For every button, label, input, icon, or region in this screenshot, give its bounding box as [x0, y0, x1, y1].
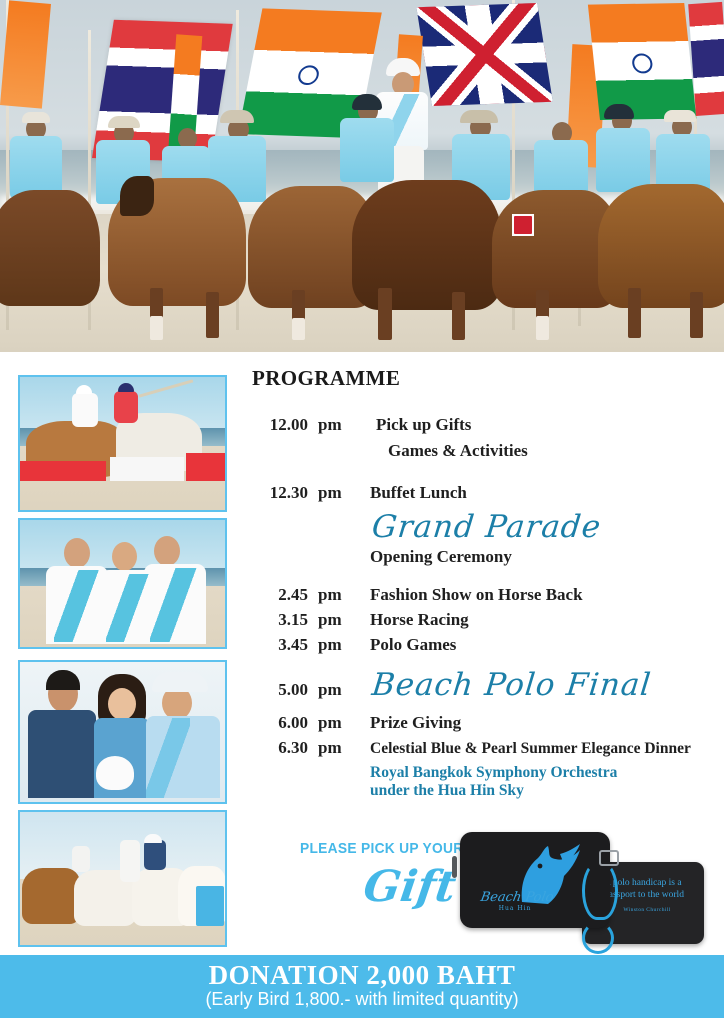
row-ampm: pm	[308, 415, 364, 435]
player-head	[64, 538, 90, 568]
helmet	[76, 385, 92, 394]
programme-section: PROGRAMME 12.00 pm Pick up Gifts Games &…	[252, 366, 712, 801]
row-event-script: Grand Parade	[362, 509, 603, 545]
gallery-photo-team-players	[18, 518, 227, 649]
row-ampm: pm	[308, 738, 364, 758]
row-event: Opening Ceremony	[364, 547, 512, 567]
horse	[598, 184, 724, 308]
person-shirt	[340, 118, 394, 182]
horse-leg	[452, 292, 465, 340]
programme-row: 12.00 pm Pick up Gifts	[252, 415, 712, 435]
row-event: Prize Giving	[364, 713, 461, 733]
guest-hat	[152, 672, 208, 692]
person-hat	[664, 110, 696, 122]
india-chakra-icon	[296, 65, 320, 85]
zipper-icon	[452, 856, 457, 878]
horse-leg	[690, 292, 703, 338]
horse-leg	[378, 288, 392, 340]
programme-row: 3.45 pm Polo Games	[252, 635, 712, 655]
orchestra-lines: Royal Bangkok Symphony Orchestra under t…	[364, 764, 617, 801]
orchestra-line-1: Royal Bangkok Symphony Orchestra	[370, 764, 617, 781]
row-time: 3.45	[252, 635, 308, 655]
horse-sock	[536, 316, 549, 340]
programme-row: 2.45 pm Fashion Show on Horse Back	[252, 585, 712, 605]
row-ampm: pm	[308, 585, 364, 605]
guest-head	[108, 688, 136, 720]
pick-up-gift-label: PLEASE PICK UP YOUR	[300, 840, 463, 857]
programme-row-orchestra: Royal Bangkok Symphony Orchestra under t…	[252, 764, 712, 801]
row-event: Fashion Show on Horse Back	[364, 585, 583, 605]
gallery-photo-children-ponies	[18, 810, 227, 947]
row-event: Buffet Lunch	[364, 483, 467, 503]
row-time: 12.00	[252, 415, 308, 435]
wrist-strap-loop	[582, 922, 614, 954]
programme-row: 6.30 pm Celestial Blue & Pearl Summer El…	[252, 738, 712, 758]
person-shirt	[596, 128, 650, 192]
programme-row-grand-parade: Grand Parade	[252, 509, 712, 545]
row-ampm: pm	[308, 713, 364, 733]
horse-mane	[120, 176, 154, 216]
row-ampm: pm	[308, 610, 364, 630]
horse-leg	[206, 292, 219, 338]
row-time: 5.00	[252, 680, 308, 700]
pony	[22, 868, 80, 924]
row-event-script: Beach Polo Final	[362, 667, 653, 703]
player-sash	[150, 568, 198, 642]
donation-amount: DONATION 2,000 BAHT	[0, 955, 724, 991]
dog	[96, 756, 134, 790]
row-event: Horse Racing	[364, 610, 469, 630]
guest-shirt	[28, 710, 96, 798]
player-head	[112, 542, 137, 571]
row-time: 3.15	[252, 610, 308, 630]
orchestra-line-2: under the Hua Hin Sky	[370, 782, 524, 799]
row-event: Polo Games	[364, 635, 456, 655]
flag-india	[588, 3, 696, 120]
india-chakra-icon	[631, 53, 653, 73]
hero-parade-photo	[0, 0, 724, 352]
donation-banner: DONATION 2,000 BAHT (Early Bird 1,800.- …	[0, 955, 724, 1018]
person-hat	[352, 94, 382, 110]
horse-number	[514, 216, 532, 234]
player-head	[154, 536, 180, 566]
row-time: 6.30	[252, 738, 308, 758]
gift-brand-location: Hua Hin	[479, 905, 552, 912]
sponsor-board	[20, 461, 106, 481]
horse-sock	[292, 318, 305, 340]
child-rider	[144, 840, 166, 870]
adult-handler	[120, 840, 140, 882]
row-ampm: pm	[308, 483, 364, 503]
person-hat	[108, 116, 140, 128]
person-hat	[22, 112, 50, 123]
horse-sock	[150, 316, 163, 340]
gift-brand-name: Beach Polo	[479, 890, 554, 905]
person-hat	[604, 104, 634, 119]
gallery-photo-guests-with-dog	[18, 660, 227, 804]
row-event: Celestial Blue & Pearl Summer Elegance D…	[364, 740, 691, 758]
programme-row-beach-polo-final: 5.00 pm Beach Polo Final	[252, 667, 712, 703]
polo-player	[114, 391, 138, 423]
row-time: 2.45	[252, 585, 308, 605]
person-shirt	[10, 136, 62, 198]
child-rider	[72, 846, 90, 872]
gift-section: PLEASE PICK UP YOUR Gift A polo handicap…	[252, 826, 712, 946]
programme-row: 6.00 pm Prize Giving	[252, 713, 712, 733]
gift-word: Gift	[360, 862, 458, 912]
horse	[0, 190, 100, 306]
row-ampm: pm	[308, 680, 364, 700]
sponsor-board	[186, 453, 226, 481]
banner	[196, 886, 224, 926]
gift-quote-author: Winston Churchill	[604, 907, 690, 914]
horse-leg	[628, 288, 641, 338]
gift-brand: Beach Polo Hua Hin	[478, 890, 555, 912]
helmet	[118, 383, 134, 392]
flag-orange	[0, 0, 51, 108]
horse	[352, 180, 502, 310]
wrist-strap	[582, 862, 618, 920]
person-hat	[220, 110, 254, 123]
sponsor-board	[110, 457, 184, 481]
gallery-photo-polo-match	[18, 375, 227, 512]
guest-sash	[146, 718, 190, 798]
polo-player	[72, 393, 98, 427]
programme-row: Opening Ceremony	[252, 547, 712, 567]
flag-united-kingdom	[416, 3, 552, 106]
early-bird-note: (Early Bird 1,800.- with limited quantit…	[0, 989, 724, 1010]
row-time: 6.00	[252, 713, 308, 733]
programme-row: 12.30 pm Buffet Lunch	[252, 483, 712, 503]
programme-row: 3.15 pm Horse Racing	[252, 610, 712, 630]
row-event: Pick up Gifts	[364, 415, 471, 435]
child-helmet	[144, 834, 162, 843]
row-ampm: pm	[308, 635, 364, 655]
row-time: 12.30	[252, 483, 308, 503]
row-event: Games & Activities	[364, 441, 528, 461]
player-sash	[54, 570, 100, 642]
programme-row: Games & Activities	[252, 441, 712, 461]
person-hat	[460, 110, 498, 123]
programme-title: PROGRAMME	[252, 366, 712, 391]
player-sash	[106, 574, 150, 642]
